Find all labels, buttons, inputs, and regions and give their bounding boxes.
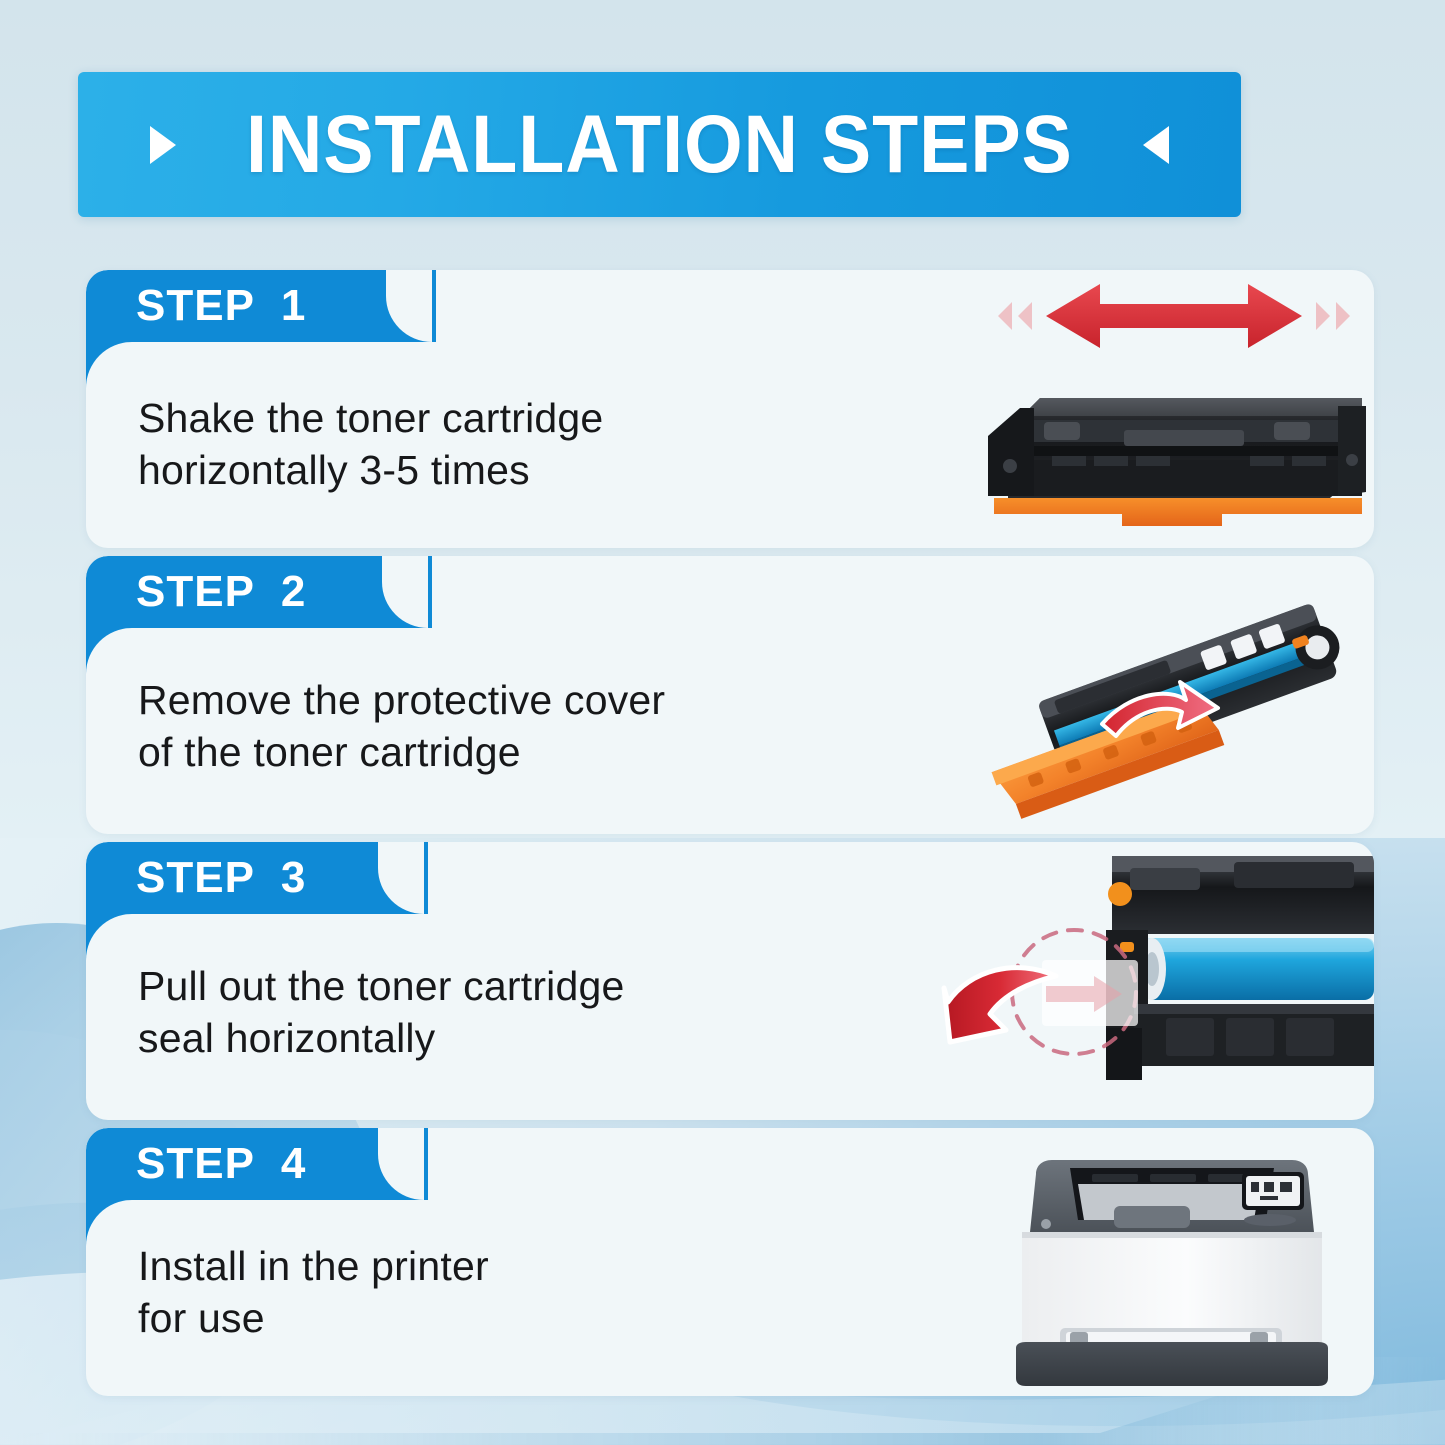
step-tab-under-4 xyxy=(86,1200,132,1246)
step-tab-number-2: 2 xyxy=(281,570,305,614)
step-tab-curve-1 xyxy=(386,270,432,342)
step-card-4: STEP 4 Install in the printer for use xyxy=(86,1128,1374,1396)
step-tab-curve-4 xyxy=(378,1128,424,1200)
step-tab-1: STEP 1 xyxy=(86,270,436,342)
step-tab-number-4: 4 xyxy=(281,1142,305,1186)
step-tab-4: STEP 4 xyxy=(86,1128,428,1200)
step-tab-under-2 xyxy=(86,628,132,674)
step-tab-under-1 xyxy=(86,342,132,388)
triangle-right-icon xyxy=(150,126,176,164)
triangle-left-icon xyxy=(1143,126,1169,164)
installation-steps-infographic: INSTALLATION STEPS STEP 1 Shake the tone… xyxy=(0,0,1445,1445)
step-card-3: STEP 3 Pull out the toner cartridge seal… xyxy=(86,842,1374,1120)
page-title: INSTALLATION STEPS xyxy=(246,104,1073,186)
step-description-3: Pull out the toner cartridge seal horizo… xyxy=(138,960,625,1065)
step-tab-label-4: STEP xyxy=(136,1142,255,1186)
step-description-2: Remove the protective cover of the toner… xyxy=(138,674,665,779)
step-card-2: STEP 2 Remove the protective cover of th… xyxy=(86,556,1374,834)
step-tab-3: STEP 3 xyxy=(86,842,428,914)
step-tab-2: STEP 2 xyxy=(86,556,432,628)
step-tab-number-1: 1 xyxy=(281,284,305,328)
step-illustration-2 xyxy=(974,556,1374,834)
step-tab-curve-2 xyxy=(382,556,428,628)
step-tab-label-1: STEP xyxy=(136,284,255,328)
step-illustration-3 xyxy=(934,842,1374,1120)
step-description-1: Shake the toner cartridge horizontally 3… xyxy=(138,392,603,497)
step-tab-curve-3 xyxy=(378,842,424,914)
step-tab-label-3: STEP xyxy=(136,856,255,900)
header-banner: INSTALLATION STEPS xyxy=(78,72,1241,217)
step-tab-number-3: 3 xyxy=(281,856,305,900)
step-illustration-4 xyxy=(974,1128,1374,1396)
step-card-1: STEP 1 Shake the toner cartridge horizon… xyxy=(86,270,1374,548)
step-illustration-1 xyxy=(974,270,1374,548)
step-tab-under-3 xyxy=(86,914,132,960)
step-tab-label-2: STEP xyxy=(136,570,255,614)
step-description-4: Install in the printer for use xyxy=(138,1240,489,1345)
